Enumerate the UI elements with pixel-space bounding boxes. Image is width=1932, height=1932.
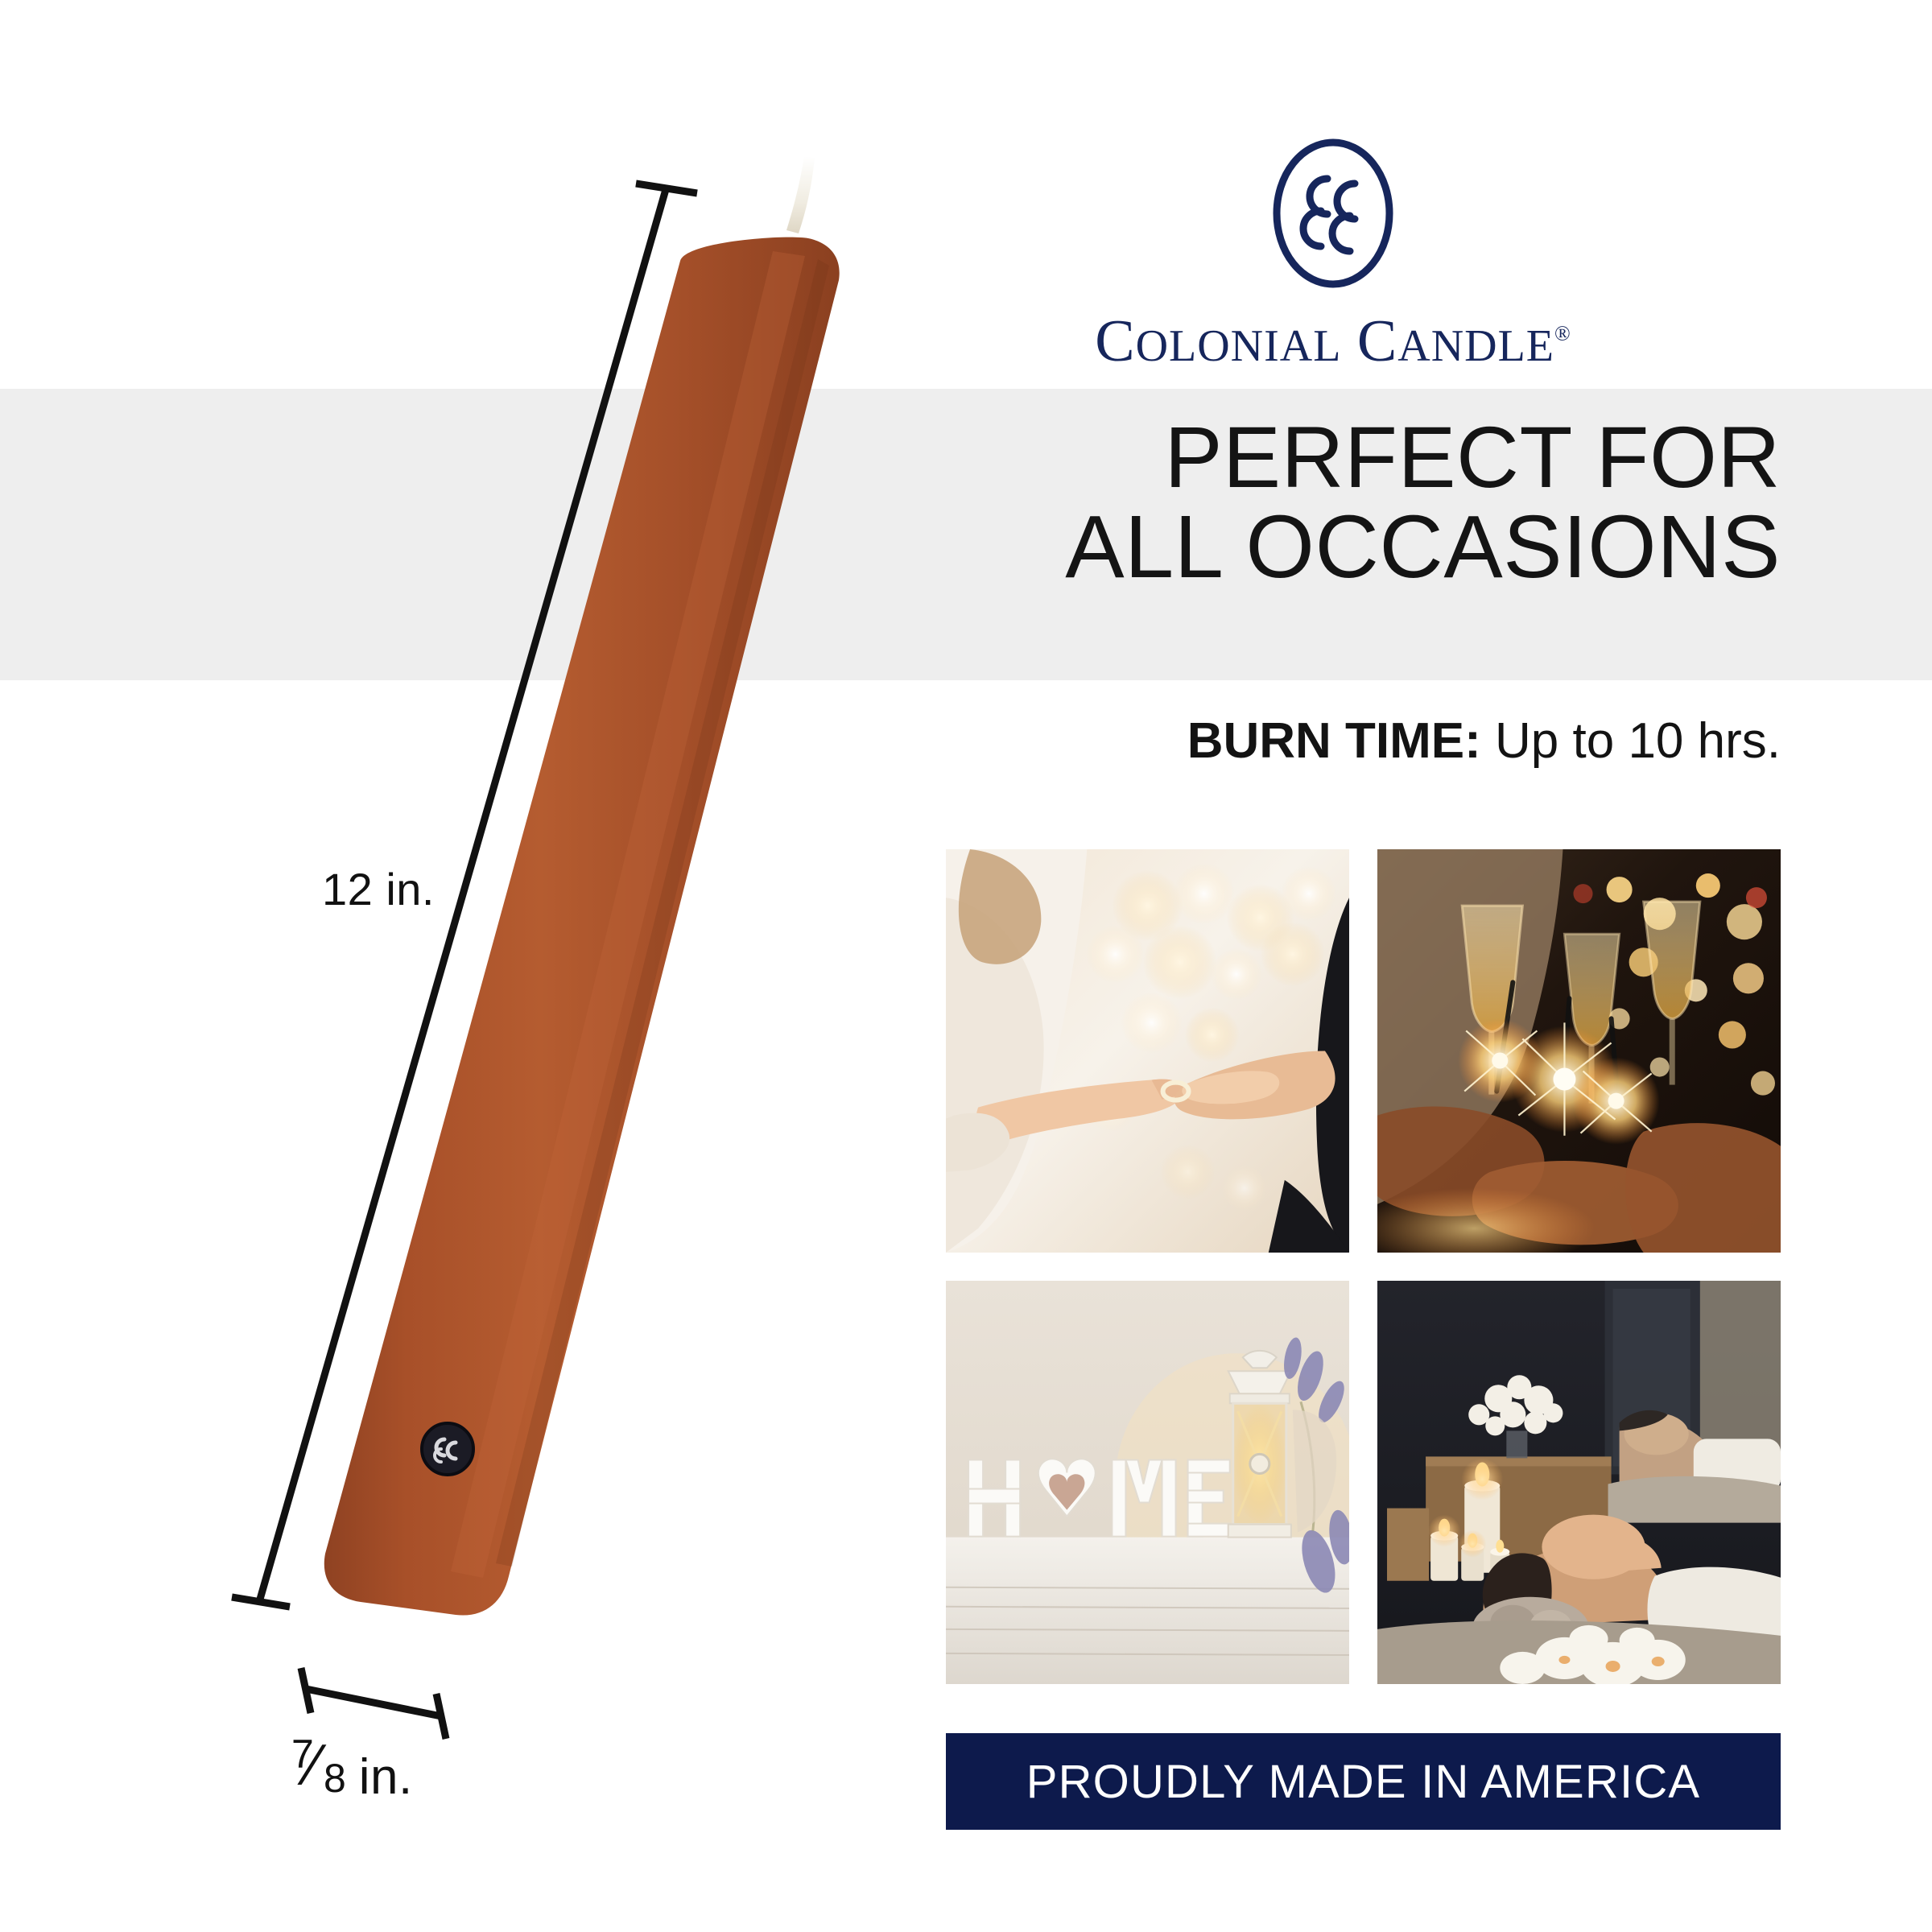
width-dimension-label: 7 ⁄ 8 in. <box>291 1740 413 1806</box>
banner-text: PROUDLY MADE IN AMERICA <box>1026 1755 1701 1809</box>
wordmark-c2: C <box>1357 308 1397 374</box>
headline-line-1: PERFECT FOR <box>1164 408 1781 506</box>
width-unit-label: in. <box>359 1749 413 1805</box>
headline: PERFECT FOR ALL OCCASIONS <box>927 412 1781 592</box>
lifestyle-photo-grid <box>946 849 1781 1684</box>
wordmark-andle: ANDLE <box>1397 321 1554 371</box>
wordmark-olonial: OLONIAL <box>1136 321 1342 371</box>
headline-line-2: ALL OCCASIONS <box>927 502 1781 592</box>
photo-tile-wedding-ring-exchange <box>946 849 1349 1253</box>
burn-time-row: BURN TIME: Up to 10 hrs. <box>927 712 1781 770</box>
registered-trademark-icon: ® <box>1554 321 1571 345</box>
wordmark-c1: C <box>1095 308 1135 374</box>
product-image-panel: 12 in. 7 ⁄ 8 in. <box>0 0 885 1932</box>
height-dimension-cap-bottom <box>232 1597 290 1607</box>
height-dimension-label: 12 in. <box>322 863 435 915</box>
burn-time-value: Up to 10 hrs. <box>1495 713 1781 769</box>
height-dimension-cap-top <box>636 184 697 193</box>
photo-tile-home-decor-lantern <box>946 1281 1349 1684</box>
width-dimension-line <box>306 1689 441 1716</box>
made-in-america-banner: PROUDLY MADE IN AMERICA <box>946 1733 1781 1830</box>
lantern <box>1228 1351 1291 1538</box>
width-dimension-cap-right <box>436 1694 446 1739</box>
fraction-slash-icon: ⁄ <box>309 1732 320 1798</box>
burn-time-label: BURN TIME: <box>1187 713 1481 769</box>
fraction-denominator: 8 <box>324 1755 346 1802</box>
height-dimension-line <box>259 187 667 1602</box>
brand-logo: COLONIAL CANDLE® <box>885 137 1781 376</box>
fraction-seven-eighths: 7 ⁄ 8 <box>291 1740 345 1798</box>
dimension-lines <box>0 0 885 1932</box>
width-dimension-cap-left <box>301 1668 311 1713</box>
brand-wordmark: COLONIAL CANDLE® <box>885 308 1781 376</box>
photo-tile-champagne-sparklers <box>1377 849 1781 1253</box>
marketing-panel: COLONIAL CANDLE® PERFECT FOR ALL OCCASIO… <box>885 0 1932 1932</box>
photo-tile-spa-relaxation <box>1377 1281 1781 1684</box>
cc-monogram-oval-icon <box>1265 137 1402 290</box>
